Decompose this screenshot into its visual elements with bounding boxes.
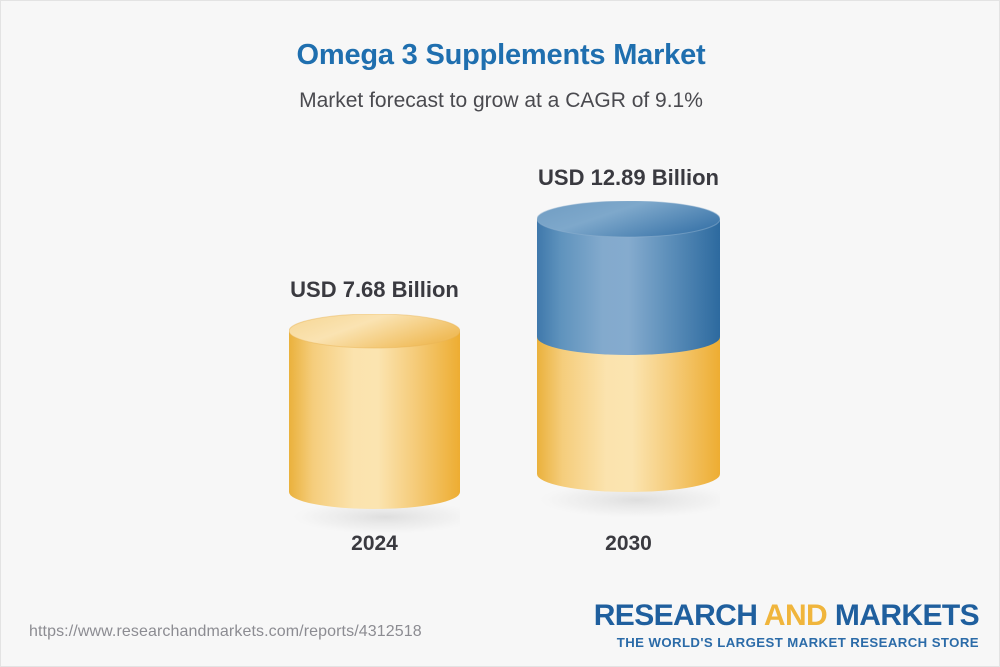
brand-wordmark-research: RESEARCH: [594, 599, 764, 632]
bar-category-label-2030: 2030: [537, 532, 720, 556]
brand-wordmark-markets: MARKETS: [827, 599, 979, 632]
brand-wordmark-and: AND: [764, 599, 827, 632]
bar-value-label-2030: USD 12.89 Billion: [537, 165, 720, 191]
brand-wordmark: RESEARCH AND MARKETS: [594, 601, 979, 631]
report-url[interactable]: https://www.researchandmarkets.com/repor…: [29, 623, 422, 641]
cylinder-2024: [289, 314, 460, 549]
bar-value-label-2024: USD 7.68 Billion: [289, 277, 460, 303]
bar-category-label-2024: 2024: [289, 532, 460, 556]
bar-group-2030: USD 12.89 Billion: [537, 1, 720, 601]
brand-tagline: THE WORLD'S LARGEST MARKET RESEARCH STOR…: [594, 636, 979, 649]
infographic-canvas: Omega 3 Supplements Market Market foreca…: [0, 0, 1000, 667]
bar-group-2024: USD 7.68 Billion: [289, 1, 460, 601]
chart-plot-area: USD 7.68 Billion: [1, 1, 1000, 601]
cylinder-2030: [537, 201, 720, 531]
brand-logo[interactable]: RESEARCH AND MARKETS THE WORLD'S LARGEST…: [594, 601, 979, 649]
